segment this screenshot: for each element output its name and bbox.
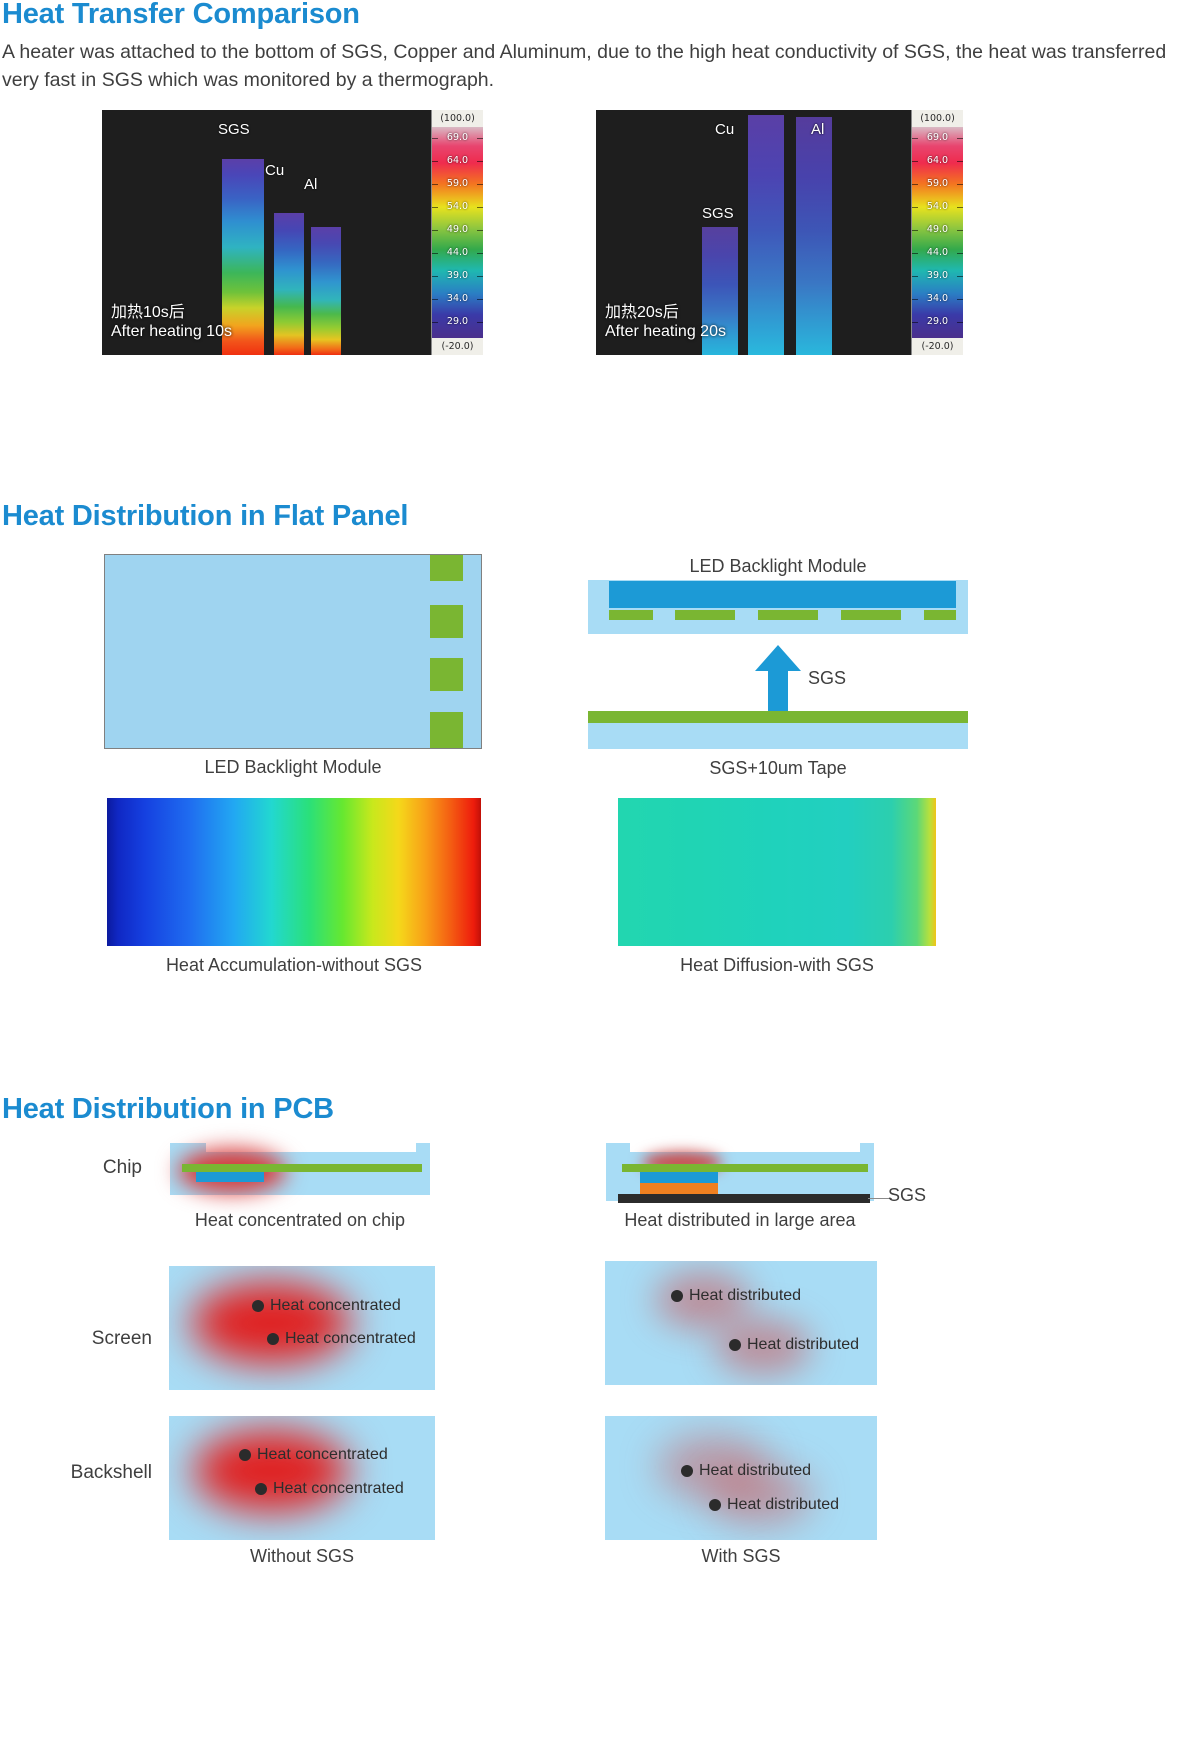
heatmap-right-caption: Heat Diffusion-with SGS [618, 955, 936, 976]
heat-blob [191, 1282, 351, 1364]
heat-dot-text: Heat distributed [699, 1462, 811, 1480]
heat-dot-text: Heat distributed [747, 1336, 859, 1354]
chip-die-left [196, 1172, 264, 1182]
thermal-bar-cu [274, 213, 304, 355]
sgs-arrow-up-icon [755, 645, 801, 717]
scale-tick-5: 44.0 [912, 247, 963, 258]
thermal-bar-label-al-20s: Al [811, 121, 824, 138]
scale-tick-7: 34.0 [432, 293, 483, 304]
led-strip [430, 605, 463, 638]
cross-section-led [924, 610, 956, 620]
heatmap-without-sgs [107, 798, 481, 946]
heat-dot-label: Heat concentrated [239, 1446, 388, 1464]
screen-heat-panel-with-sgs: Heat distributed Heat distributed [605, 1261, 877, 1385]
heat-dot-icon [681, 1465, 693, 1477]
thermal-caption-cn-20s: 加热20s后 [605, 303, 679, 323]
heat-transfer-description: A heater was attached to the bottom of S… [2, 38, 1167, 94]
thermal-caption-en-10s: After heating 10s [111, 322, 232, 342]
pcb-row-label-backshell: Backshell [0, 1462, 152, 1484]
heat-dot-label: Heat concentrated [255, 1480, 404, 1498]
scale-tick-2: 59.0 [912, 178, 963, 189]
thermal-bar-label-cu: Cu [265, 162, 284, 179]
heat-dot-text: Heat concentrated [273, 1480, 404, 1498]
heat-dot-label: Heat distributed [681, 1462, 811, 1480]
chip-sgs-layer-right [618, 1194, 870, 1203]
cross-section-led [841, 610, 901, 620]
scale-tick-7: 34.0 [912, 293, 963, 304]
scale-tick-3: 54.0 [912, 201, 963, 212]
heat-dot-text: Heat concentrated [285, 1330, 416, 1348]
thermal-image-10s: SGS Cu Al 加热10s后 After heating 10s (100.… [102, 110, 483, 355]
led-strip [430, 658, 463, 691]
screen-heat-panel-without-sgs: Heat concentrated Heat concentrated [169, 1266, 435, 1390]
cross-section-led [758, 610, 818, 620]
heat-dot-icon [267, 1333, 279, 1345]
pcb-row-label-screen: Screen [0, 1328, 152, 1350]
led-strip [430, 555, 463, 581]
pcb-bottom-right-caption: With SGS [605, 1546, 877, 1567]
heat-dot-icon [709, 1499, 721, 1511]
scale-tick-0: 69.0 [432, 132, 483, 143]
flat-panel-top-view [104, 554, 482, 749]
scale-min-label: (-20.0) [912, 338, 963, 355]
heat-dot-icon [252, 1300, 264, 1312]
scale-tick-5: 44.0 [432, 247, 483, 258]
scale-min-label: (-20.0) [432, 338, 483, 355]
scale-tick-1: 64.0 [432, 155, 483, 166]
cross-section-lightguide [588, 620, 968, 634]
cross-section-tape-base [588, 722, 968, 749]
heatmap-with-sgs [618, 798, 936, 946]
pcb-left-caption: Heat concentrated on chip [170, 1210, 430, 1231]
scale-tick-6: 39.0 [432, 270, 483, 281]
heat-dot-icon [255, 1483, 267, 1495]
heat-dot-text: Heat concentrated [270, 1297, 401, 1315]
thermal-caption-en-20s: After heating 20s [605, 322, 726, 342]
heat-dot-icon [239, 1449, 251, 1461]
thermal-bar-al-20s [796, 117, 832, 355]
cross-section-led [609, 610, 653, 620]
heat-dot-label: Heat concentrated [267, 1330, 416, 1348]
chip-pcb-layer-right [622, 1164, 868, 1172]
heat-blob [193, 1430, 349, 1512]
heat-dot-icon [729, 1339, 741, 1351]
temperature-scale-10s: (100.0) 69.0 64.0 59.0 54.0 49.0 44.0 39… [431, 110, 483, 355]
scale-max-label: (100.0) [912, 110, 963, 127]
pcb-bottom-left-caption: Without SGS [169, 1546, 435, 1567]
pcb-right-caption: Heat distributed in large area [606, 1210, 874, 1231]
thermal-bar-label-sgs: SGS [218, 121, 250, 138]
heat-dot-label: Heat distributed [709, 1496, 839, 1514]
scale-tick-2: 59.0 [432, 178, 483, 189]
flat-panel-left-caption: LED Backlight Module [104, 757, 482, 778]
chip-die-right [640, 1172, 718, 1183]
thermal-image-20s: Cu Al SGS 加热20s后 After heating 20s (100.… [596, 110, 963, 355]
page-title-flat-panel: Heat Distribution in Flat Panel [2, 500, 408, 533]
scale-tick-0: 69.0 [912, 132, 963, 143]
document-page: Heat Transfer Comparison A heater was at… [0, 0, 1184, 1752]
scale-tick-8: 29.0 [432, 316, 483, 327]
chip-notch-right [630, 1143, 860, 1152]
pcb-sgs-label: SGS [888, 1185, 926, 1206]
scale-tick-1: 64.0 [912, 155, 963, 166]
heat-dot-icon [671, 1290, 683, 1302]
page-title-pcb: Heat Distribution in PCB [2, 1093, 334, 1126]
cross-section-led-module [609, 581, 956, 608]
thermal-bar-label-cu-20s: Cu [715, 121, 734, 138]
backshell-heat-panel-without-sgs: Heat concentrated Heat concentrated [169, 1416, 435, 1540]
page-title-heat-transfer: Heat Transfer Comparison [2, 0, 360, 31]
temperature-scale-20s: (100.0) 69.0 64.0 59.0 54.0 49.0 44.0 39… [911, 110, 963, 355]
flat-panel-right-caption: SGS+10um Tape [588, 758, 968, 779]
heat-dot-text: Heat distributed [689, 1287, 801, 1305]
thermal-caption-cn-10s: 加热10s后 [111, 303, 185, 323]
pcb-row-label-chip: Chip [0, 1157, 142, 1179]
scale-tick-8: 29.0 [912, 316, 963, 327]
thermal-bar-label-al: Al [304, 176, 317, 193]
chip-pcb-layer-left [182, 1164, 422, 1172]
thermal-bar-al [311, 227, 341, 355]
scale-max-label: (100.0) [432, 110, 483, 127]
chip-thermal-interface-right [640, 1183, 718, 1194]
thermal-bar-label-sgs-20s: SGS [702, 205, 734, 222]
cross-section-led [675, 610, 735, 620]
scale-tick-4: 49.0 [912, 224, 963, 235]
heat-dot-label: Heat distributed [671, 1287, 801, 1305]
led-strip [430, 712, 463, 748]
heat-dot-label: Heat distributed [729, 1336, 859, 1354]
heatmap-left-caption: Heat Accumulation-without SGS [107, 955, 481, 976]
heat-dot-text: Heat concentrated [257, 1446, 388, 1464]
heat-dot-label: Heat concentrated [252, 1297, 401, 1315]
sgs-arrow-label: SGS [808, 668, 846, 689]
scale-tick-3: 54.0 [432, 201, 483, 212]
thermal-bar-cu-20s [748, 115, 784, 355]
cross-section-sgs-layer [588, 711, 968, 723]
flat-panel-module-label: LED Backlight Module [588, 556, 968, 577]
scale-tick-4: 49.0 [432, 224, 483, 235]
heat-dot-text: Heat distributed [727, 1496, 839, 1514]
backshell-heat-panel-with-sgs: Heat distributed Heat distributed [605, 1416, 877, 1540]
scale-tick-6: 39.0 [912, 270, 963, 281]
